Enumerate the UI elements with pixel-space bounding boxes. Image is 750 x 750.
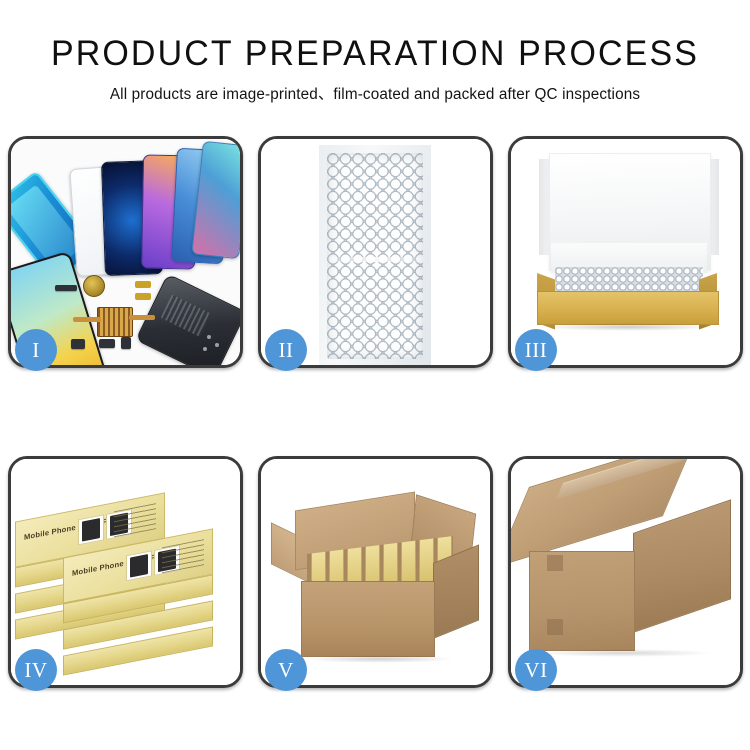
speaker-coil-graphic xyxy=(83,275,105,297)
step-badge-1: I xyxy=(15,329,57,371)
step-panel-3[interactable]: III xyxy=(508,136,743,368)
step-panel-6[interactable]: VI xyxy=(508,456,743,688)
gold-contact-graphic xyxy=(135,293,151,300)
flex-cable-graphic xyxy=(73,317,101,322)
page-header: PRODUCT PREPARATION PROCESS All products… xyxy=(0,0,750,104)
gold-contact-graphic xyxy=(135,281,151,288)
page-subtitle: All products are image-printed、film-coat… xyxy=(6,73,745,104)
step-badge-2: II xyxy=(265,329,307,371)
small-chip-graphic xyxy=(99,339,115,348)
box-base-front-graphic xyxy=(537,291,719,325)
connector-grid-chip-graphic xyxy=(97,307,133,337)
bubble-texture-graphic xyxy=(327,153,423,359)
carton-shadow-graphic xyxy=(305,655,455,663)
small-chip-graphic xyxy=(71,339,85,349)
step-badge-6: VI xyxy=(515,649,557,691)
box-shadow-graphic xyxy=(541,323,715,331)
step-panel-1[interactable]: I xyxy=(8,136,243,368)
box-spec-lines-graphic xyxy=(162,539,204,573)
flex-cable-graphic xyxy=(129,315,155,320)
screw-graphic xyxy=(203,347,207,351)
step-panel-4[interactable]: Mobile Phone Spare Parts Mobile Phone Sp… xyxy=(8,456,243,688)
carton-front-face-graphic xyxy=(529,551,635,651)
screw-graphic xyxy=(215,343,219,347)
step-badge-4: IV xyxy=(15,649,57,691)
carton-tab-graphic xyxy=(547,619,563,635)
box-window-graphic xyxy=(78,514,104,545)
box-spec-lines-graphic xyxy=(114,503,156,537)
small-chip-graphic xyxy=(121,337,131,349)
bubble-seam-graphic xyxy=(327,257,423,262)
process-steps-grid: I II III xyxy=(8,136,742,688)
step-panel-2[interactable]: II xyxy=(258,136,493,368)
screw-graphic xyxy=(207,335,211,339)
page-title: PRODUCT PREPARATION PROCESS xyxy=(11,0,739,73)
carton-shadow-graphic xyxy=(535,649,713,657)
step-badge-3: III xyxy=(515,329,557,371)
carton-front-graphic xyxy=(301,581,435,657)
box-window-graphic xyxy=(126,550,152,581)
step-panel-5[interactable]: V xyxy=(258,456,493,688)
carton-tab-graphic xyxy=(547,555,563,571)
small-chip-graphic xyxy=(55,285,77,291)
step-badge-5: V xyxy=(265,649,307,691)
